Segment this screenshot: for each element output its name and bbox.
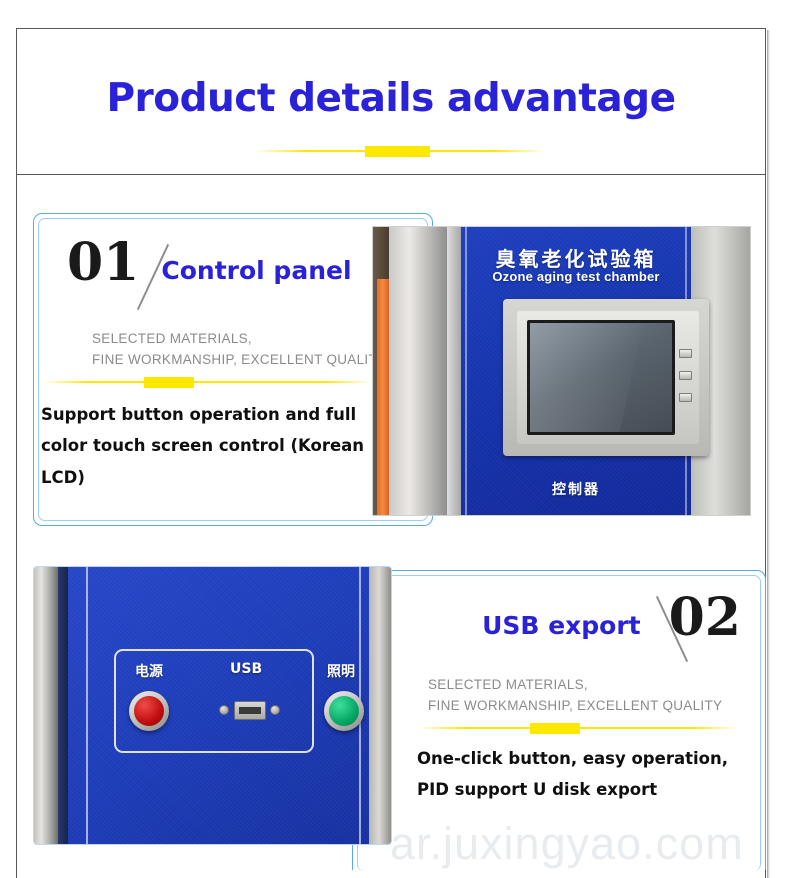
photo-ozone-chamber-control-panel: 臭氧老化试验箱 Ozone aging test chamber 控制器: [373, 227, 750, 515]
chamber-steel-trim: [447, 227, 461, 515]
hmi-led-com-icon: [679, 393, 692, 402]
chamber-controller-label: 控制器: [461, 479, 691, 499]
card-01-subtitle-line1: SELECTED MATERIALS,: [92, 329, 386, 350]
chamber-steel-door-edge: [389, 227, 447, 515]
hmi-led-run-icon: [679, 371, 692, 380]
frame-shadow: [767, 30, 770, 878]
card-02-heading-row: USB export 02: [482, 593, 741, 642]
card-02-description: One-click button, easy operation, PID su…: [417, 743, 757, 806]
card-02-divider: [418, 723, 738, 734]
power-label: 电源: [135, 661, 163, 681]
chamber-label-chinese: 臭氧老化试验箱: [461, 243, 691, 272]
card-01-heading-row: 01 Control panel: [67, 238, 352, 287]
power-button-face: [134, 696, 164, 726]
card-01-divider: [42, 377, 372, 388]
title-divider-block: [365, 146, 430, 157]
card-02-description-line1: One-click button, easy operation,: [417, 743, 757, 774]
card-02-description-line2: PID support U disk export: [417, 774, 757, 805]
light-button-face: [329, 696, 359, 726]
hmi-screen[interactable]: [527, 320, 675, 435]
card-02-subtitle-line1: SELECTED MATERIALS,: [428, 675, 722, 696]
card-01-number: 01: [67, 238, 139, 287]
chamber-orange-seal: [377, 279, 389, 515]
panel-highlight-line-left: [86, 567, 88, 844]
card-02-heading: USB export: [482, 613, 641, 638]
usb-screw-left-icon: [219, 705, 229, 715]
usb-label: USB: [230, 661, 262, 677]
card-01-description: Support button operation and full color …: [41, 399, 386, 493]
hmi-touchscreen-bezel[interactable]: [503, 299, 709, 456]
hmi-led-pwr-icon: [679, 349, 692, 358]
usb-port-icon[interactable]: [234, 701, 266, 720]
card-02-divider-block: [530, 723, 580, 734]
card-02-subtitle-line2: FINE WORKMANSHIP, EXCELLENT QUALITY: [428, 696, 722, 717]
panel-left-dark-edge: [58, 567, 68, 844]
usb-screw-right-icon: [270, 705, 280, 715]
title-divider: [255, 146, 545, 156]
card-01-subtitle-line2: FINE WORKMANSHIP, EXCELLENT QUALITY: [92, 350, 386, 371]
chamber-label-english: Ozone aging test chamber: [461, 269, 691, 284]
light-button[interactable]: [324, 691, 364, 731]
site-watermark: ar.juxingyao.com: [390, 818, 744, 870]
card-02-subtitle: SELECTED MATERIALS, FINE WORKMANSHIP, EX…: [428, 675, 722, 717]
card-01-divider-line: [42, 381, 372, 383]
panel-left-steel-frame: [34, 567, 58, 844]
photo-usb-button-panel: 电源 USB 照明: [33, 566, 392, 845]
page-title: Product details advantage: [0, 76, 782, 121]
panel-right-steel-frame: [369, 567, 391, 844]
hmi-inner-bezel: [517, 311, 699, 444]
card-02-number: 02: [669, 593, 741, 642]
card-01-subtitle: SELECTED MATERIALS, FINE WORKMANSHIP, EX…: [92, 329, 386, 371]
card-01-heading: Control panel: [161, 258, 351, 283]
product-details-page: Product details advantage 01 Control pan…: [0, 0, 790, 878]
light-label: 照明: [327, 661, 355, 681]
card-01-divider-block: [144, 377, 194, 388]
power-button[interactable]: [129, 691, 169, 731]
